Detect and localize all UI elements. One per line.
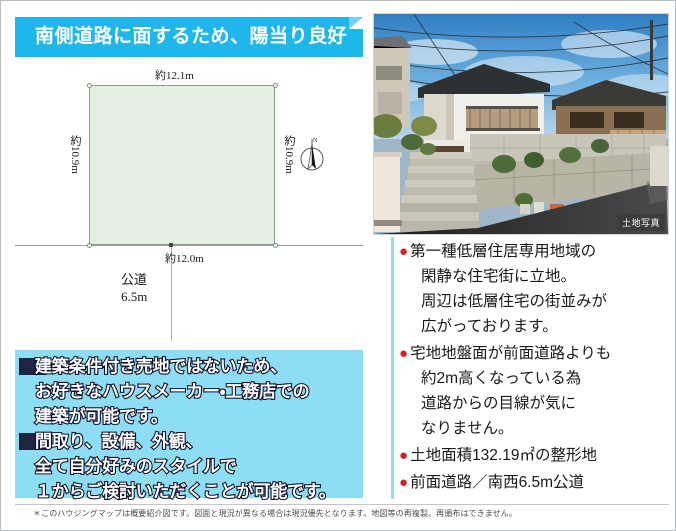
bullet-text: 閑静な住宅街に立地。 (399, 264, 671, 289)
bullet-text: 道路からの目線が気に (399, 391, 671, 416)
banner-fold-corner-icon (349, 17, 363, 29)
feature-line: 建築条件付き売地ではないため、 (15, 354, 363, 379)
footer-disclaimer: ＊このハウジングマップは概要紹介図です。図面と現況が異なる場合は現況優先となりま… (15, 504, 669, 524)
corner-node-top-right (273, 83, 278, 88)
feature-callout-panel: 建築条件付き売地ではないため、 お好きなハウスメーカー・工務店での 建築が可能で… (15, 350, 363, 498)
bullet-text: なりません。 (399, 416, 671, 441)
bullet-text: 約2m高くなっている為 (399, 366, 671, 391)
svg-text:N: N (313, 138, 318, 144)
bullet-text: 宅地地盤面が前面道路よりも (399, 341, 671, 366)
road-label-type: 公道 (121, 271, 147, 288)
north-arrow-icon: N (292, 135, 332, 177)
dimension-label-south: 約12.0m (165, 250, 204, 266)
property-feature-list: 第一種低層住居専用地域の 閑静な住宅街に立地。 周辺は低層住宅の街並みが 広がっ… (399, 239, 671, 497)
list-item: 前面道路／南西6.5m公道 (399, 470, 671, 495)
road-label: 公道 6.5m (121, 271, 147, 305)
disclaimer-text: ＊このハウジングマップは概要紹介図です。図面と現況が異なる場合は現況優先となりま… (33, 508, 517, 519)
list-item: 宅地地盤面が前面道路よりも 約2m高くなっている為 道路からの目線が気に なりま… (399, 341, 671, 441)
list-item: 第一種低層住居専用地域の 閑静な住宅街に立地。 周辺は低層住宅の街並みが 広がっ… (399, 239, 671, 339)
feature-line-text: 建築が可能です。 (35, 407, 168, 426)
headline-banner: 南側道路に面するため、陽当り良好 (15, 17, 363, 57)
land-photo: 土地写真 (373, 13, 669, 235)
banner-headline: 南側道路に面するため、陽当り良好 (35, 17, 347, 57)
dimension-label-west: 約10.9m (67, 135, 83, 174)
corner-node-bottom-left (87, 243, 92, 248)
bullet-text: 前面道路／南西6.5m公道 (399, 470, 671, 495)
bullet-text: 土地面積132.19㎡の整形地 (399, 443, 671, 468)
feature-line: 間取り、設備、外観、 (15, 429, 363, 454)
road-edge-line (15, 245, 363, 246)
feature-line: １からご検討いただくことが可能です。 (15, 479, 363, 504)
corner-node-bottom-right (273, 243, 278, 248)
bullet-text: 第一種低層住居専用地域の (399, 239, 671, 264)
corner-node-top-left (87, 83, 92, 88)
road-label-width: 6.5m (121, 288, 147, 305)
banner-fold-body (349, 29, 363, 57)
land-parcel-shape (89, 85, 275, 245)
list-item: 土地面積132.19㎡の整形地 (399, 443, 671, 468)
feature-line-text: お好きなハウスメーカー・工務店での (35, 382, 309, 401)
bullet-text: 周辺は低層住宅の街並みが (399, 289, 671, 314)
bullets-accent-rule (391, 237, 394, 499)
housing-map-page: 南側道路に面するため、陽当り良好 約12.1m 約12.0m 約10.9m 約1… (0, 0, 676, 531)
feature-line: 全て自分好みのスタイルで (15, 454, 363, 479)
bullet-text: 広がっております。 (399, 314, 671, 339)
feature-line: お好きなハウスメーカー・工務店での (15, 379, 363, 404)
feature-line-text: 全て自分好みのスタイルで (35, 457, 237, 476)
dimension-label-north: 約12.1m (155, 67, 194, 83)
site-plan-diagram: 約12.1m 約12.0m 約10.9m 約10.9m 公道 6.5m N (15, 63, 363, 341)
feature-line: 建築が可能です。 (15, 404, 363, 429)
photo-caption: 土地写真 (617, 214, 665, 231)
road-junction-node (169, 243, 173, 247)
feature-line-text: 間取り、設備、外観、 (35, 432, 202, 451)
feature-line-text: 建築条件付き売地ではないため、 (35, 357, 287, 376)
feature-line-text: １からご検討いただくことが可能です。 (35, 482, 336, 501)
